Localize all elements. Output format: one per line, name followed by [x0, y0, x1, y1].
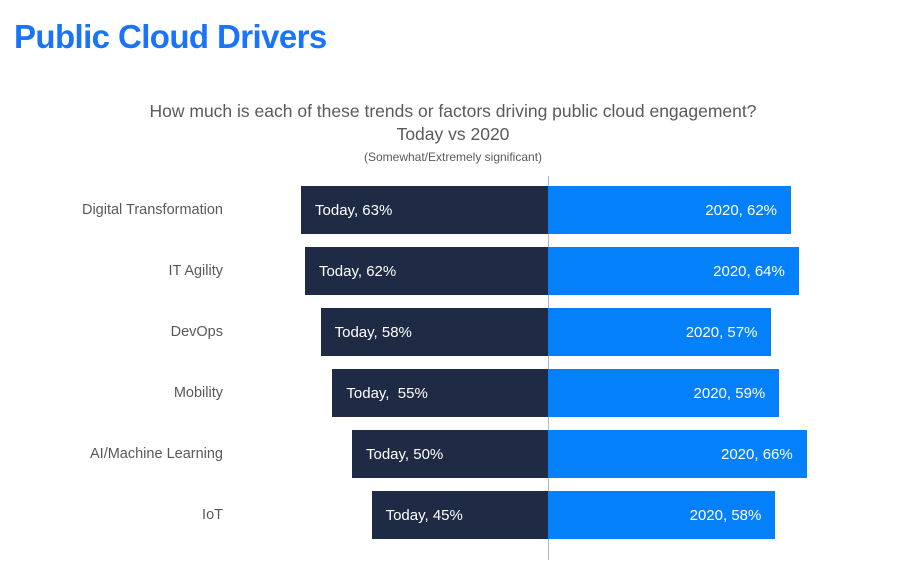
- category-label: DevOps: [0, 308, 223, 356]
- bar-today: Today, 58%: [321, 308, 548, 356]
- category-label: Digital Transformation: [0, 186, 223, 234]
- bar-2020: 2020, 57%: [548, 308, 771, 356]
- bar-today-label: Today, 62%: [319, 263, 396, 280]
- bar-2020: 2020, 66%: [548, 430, 807, 478]
- category-label: Mobility: [0, 369, 223, 417]
- bar-2020: 2020, 62%: [548, 186, 791, 234]
- bar-today-label: Today, 50%: [366, 446, 443, 463]
- chart-row: IoTToday, 45%2020, 58%: [0, 491, 906, 539]
- bar-2020: 2020, 58%: [548, 491, 775, 539]
- bar-2020-label: 2020, 66%: [721, 446, 793, 463]
- bar-today: Today, 62%: [305, 247, 548, 295]
- category-label: IoT: [0, 491, 223, 539]
- bar-today: Today, 63%: [301, 186, 548, 234]
- category-label: AI/Machine Learning: [0, 430, 223, 478]
- category-label: IT Agility: [0, 247, 223, 295]
- bar-today: Today, 55%: [332, 369, 548, 417]
- bar-2020-label: 2020, 64%: [713, 263, 785, 280]
- bar-2020: 2020, 59%: [548, 369, 779, 417]
- bar-2020: 2020, 64%: [548, 247, 799, 295]
- chart-row: IT AgilityToday, 62%2020, 64%: [0, 247, 906, 295]
- bar-today-label: Today, 45%: [386, 507, 463, 524]
- chart-row: MobilityToday, 55%2020, 59%: [0, 369, 906, 417]
- chart-row: AI/Machine LearningToday, 50%2020, 66%: [0, 430, 906, 478]
- bar-today: Today, 50%: [352, 430, 548, 478]
- bar-today-label: Today, 63%: [315, 202, 392, 219]
- bar-today-label: Today, 55%: [346, 385, 427, 402]
- bar-2020-label: 2020, 62%: [705, 202, 777, 219]
- bar-today: Today, 45%: [372, 491, 548, 539]
- chart-row: Digital TransformationToday, 63%2020, 62…: [0, 186, 906, 234]
- bar-2020-label: 2020, 58%: [690, 507, 762, 524]
- diverging-bar-chart: Digital TransformationToday, 63%2020, 62…: [0, 0, 906, 572]
- chart-row: DevOpsToday, 58%2020, 57%: [0, 308, 906, 356]
- bar-2020-label: 2020, 59%: [694, 385, 766, 402]
- bar-2020-label: 2020, 57%: [686, 324, 758, 341]
- bar-today-label: Today, 58%: [335, 324, 412, 341]
